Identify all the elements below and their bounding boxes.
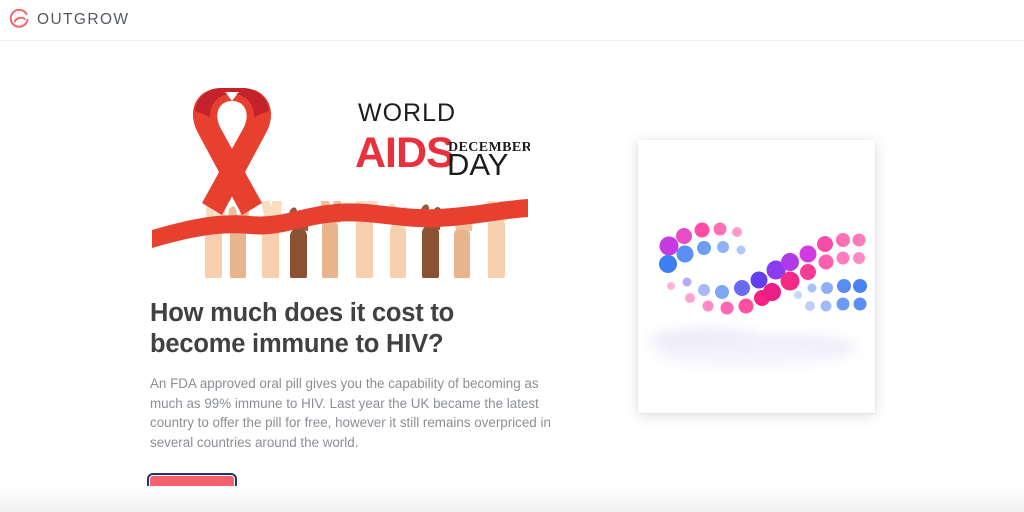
page-header: OUTGROW: [0, 0, 1024, 41]
aids-ribbon: [193, 88, 271, 215]
page-canvas: WORLD AIDS DECEMBER 1 DAY How much does …: [0, 41, 1024, 492]
aids-title-aids: AIDS: [355, 129, 454, 177]
loader-dots-left: [659, 223, 746, 315]
page-title: How much does it cost to become immune t…: [150, 298, 480, 360]
description-text: An FDA approved oral pill gives you the …: [150, 374, 558, 452]
loader-card: [638, 140, 875, 413]
content-column: WORLD AIDS DECEMBER 1 DAY How much does …: [150, 83, 560, 507]
brand-logo[interactable]: OUTGROW: [8, 9, 129, 31]
loader-dots-right: [794, 233, 867, 312]
dot-spinner-loader: [638, 140, 875, 413]
brand-name: OUTGROW: [37, 11, 129, 29]
loader-dots-center: [734, 253, 800, 314]
loader-ground-shadow: [648, 328, 858, 366]
page-bottom-band: [0, 486, 1024, 512]
outgrow-logo-icon: [8, 9, 30, 31]
aids-title-day: DAY: [447, 147, 508, 182]
world-aids-day-illustration: WORLD AIDS DECEMBER 1 DAY: [150, 83, 530, 278]
aids-title-world: WORLD: [358, 99, 456, 127]
